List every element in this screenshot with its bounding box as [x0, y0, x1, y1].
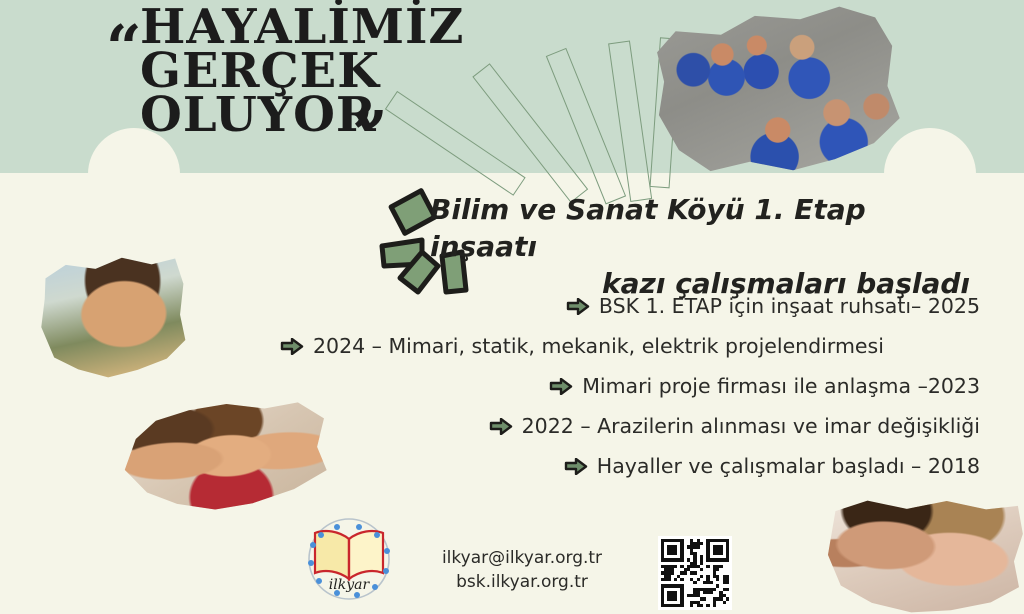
logo-wordmark: ilkyar	[329, 577, 371, 593]
arrow-right-icon	[549, 378, 573, 395]
list-item-label: 2022 – Arazilerin alınması ve imar değiş…	[522, 414, 980, 438]
contact-email[interactable]: ilkyar@ilkyar.org.tr	[408, 546, 636, 570]
qr-code-icon[interactable]	[658, 536, 732, 610]
contact-website[interactable]: bsk.ilkyar.org.tr	[408, 570, 636, 594]
list-item: Mimari proje firması ile anlaşma –2023	[280, 366, 980, 406]
timeline-list: BSK 1. ETAP için inşaat ruhsatı– 2025 20…	[280, 286, 980, 486]
headline-line-3: OLUYOR	[140, 93, 516, 137]
arrow-right-icon	[489, 418, 513, 435]
arrow-right-icon	[566, 298, 590, 315]
contact-info: ilkyar@ilkyar.org.tr bsk.ilkyar.org.tr	[408, 546, 636, 594]
page-title-line-1: Bilim ve Sanat Köyü 1. Etap inşaatı	[430, 192, 970, 266]
open-quote-icon: “	[106, 17, 142, 79]
list-item: BSK 1. ETAP için inşaat ruhsatı– 2025	[280, 286, 980, 326]
list-item-label: BSK 1. ETAP için inşaat ruhsatı– 2025	[599, 294, 980, 318]
poster-canvas: “ HAYALİMİZ GERÇEK OLUYOR ” Bilim ve San…	[0, 0, 1024, 614]
headline-quote-block: “ HAYALİMİZ GERÇEK OLUYOR ”	[96, 5, 516, 137]
list-item-label: Hayaller ve çalışmalar başladı – 2018	[597, 454, 980, 478]
arrow-right-icon	[280, 338, 304, 355]
list-item: Hayaller ve çalışmalar başladı – 2018	[280, 446, 980, 486]
list-item: 2022 – Arazilerin alınması ve imar değiş…	[280, 406, 980, 446]
list-item-label: Mimari proje firması ile anlaşma –2023	[582, 374, 980, 398]
ilkyar-logo-icon: ilkyar	[297, 507, 401, 607]
list-item-label: 2024 – Mimari, statik, mekanik, elektrik…	[313, 334, 884, 358]
close-quote-icon: ”	[352, 103, 388, 165]
arrow-right-icon	[564, 458, 588, 475]
list-item: 2024 – Mimari, statik, mekanik, elektrik…	[280, 326, 980, 366]
